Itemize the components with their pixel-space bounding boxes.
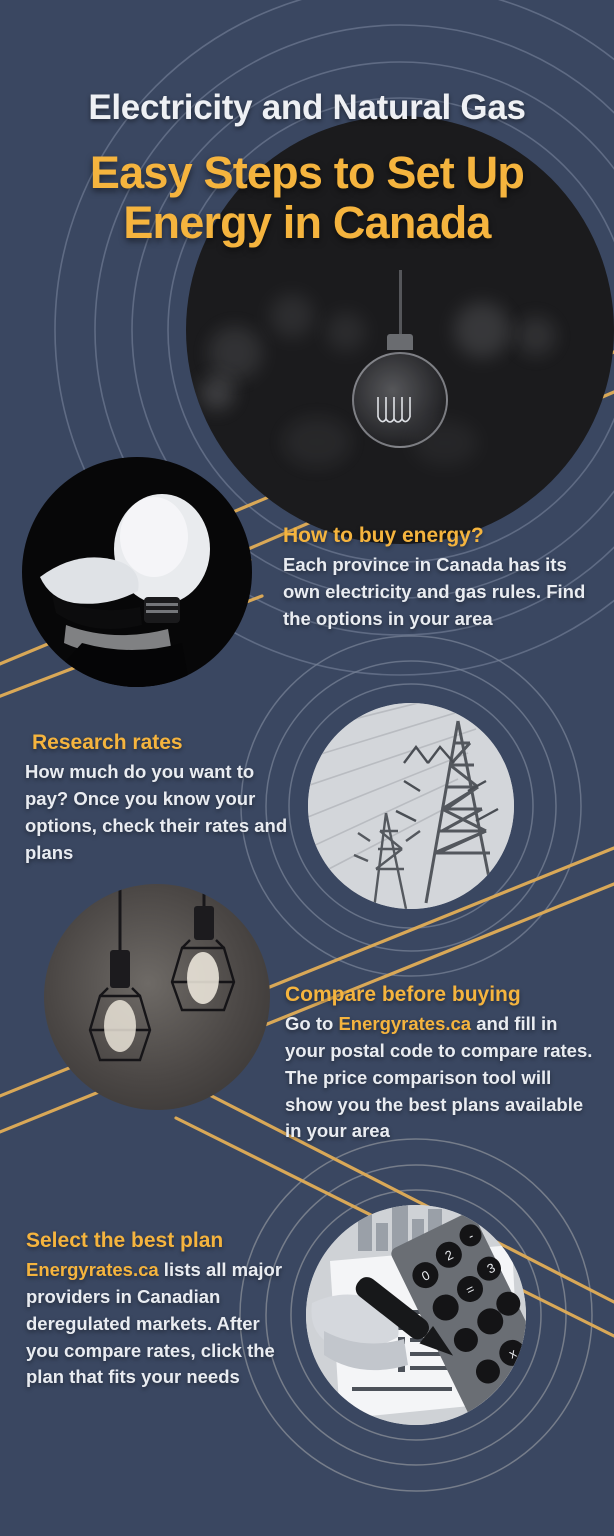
step-3-heading: Compare before buying	[285, 982, 595, 1007]
step-1-body: Each province in Canada has its own elec…	[283, 552, 591, 632]
step-1-heading: How to buy energy?	[283, 523, 591, 548]
page-title-line1: Easy Steps to Set Up	[0, 148, 614, 198]
step-3-body: Go to Energyrates.ca and fill in your po…	[285, 1011, 595, 1145]
step-select-the-best-plan: Select the best plan Energyrates.ca list…	[26, 1228, 288, 1391]
calculator-charts-photo: 02- =3 x	[306, 1205, 526, 1425]
page-title: Easy Steps to Set Up Energy in Canada	[0, 148, 614, 247]
step-2-heading: Research rates	[25, 730, 293, 755]
step-research-rates: Research rates How much do you want to p…	[25, 730, 293, 866]
pendant-lamps-photo	[44, 884, 270, 1110]
step-2-body: How much do you want to pay? Once you kn…	[25, 759, 293, 866]
eyebrow-title: Electricity and Natural Gas	[0, 88, 614, 128]
step-compare-before-buying: Compare before buying Go to Energyrates.…	[285, 982, 595, 1145]
step-4-heading: Select the best plan	[26, 1228, 288, 1253]
step-3-body-before: Go to	[285, 1013, 338, 1034]
bulb-glyph	[352, 270, 448, 448]
hand-holding-lightbulb-photo	[22, 457, 252, 687]
transmission-towers-photo	[308, 703, 514, 909]
energyrates-link-select[interactable]: Energyrates.ca	[26, 1259, 159, 1280]
step-how-to-buy-energy: How to buy energy? Each province in Cana…	[283, 523, 591, 633]
page-title-line2: Energy in Canada	[0, 198, 614, 248]
step-4-body: Energyrates.ca lists all major providers…	[26, 1257, 288, 1391]
energyrates-link-compare[interactable]: Energyrates.ca	[338, 1013, 471, 1034]
